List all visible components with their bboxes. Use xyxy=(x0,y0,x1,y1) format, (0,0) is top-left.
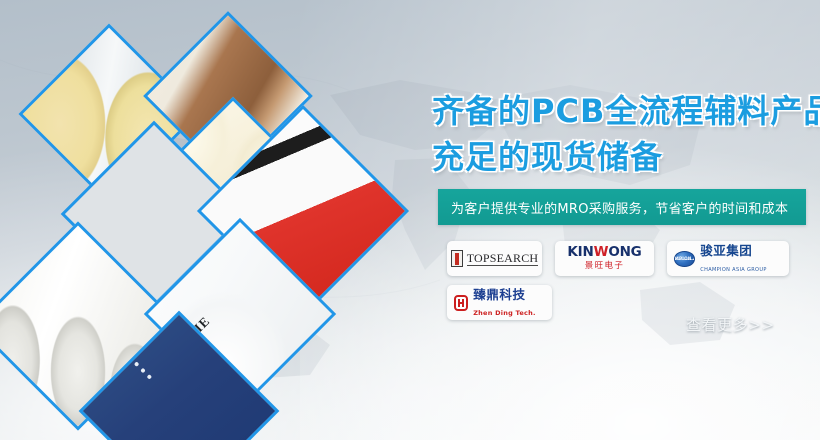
kinwong-chinese-name: 景旺电子 xyxy=(567,262,641,271)
headline-line-1: 齐备的PCB全流程辅料产品、 xyxy=(432,92,820,130)
zhending-chinese-name: 臻鼎科技 xyxy=(473,287,525,302)
banner-headline: 齐备的PCB全流程辅料产品、 充足的现货储备 xyxy=(432,88,820,180)
headline-line-2: 充足的现货储备 xyxy=(432,134,820,180)
topsearch-mark-icon xyxy=(451,250,463,267)
globe-icon-label: CHAMPION ASIA xyxy=(674,256,695,261)
champion-chinese-name: 骏亚集团 xyxy=(700,243,752,258)
partner-logo-champion-asia[interactable]: CHAMPION ASIA 骏亚集团 CHAMPION ASIA GROUP xyxy=(667,241,789,276)
banner-subtitle-text: 为客户提供专业的MRO采购服务，节省客户的时间和成本 xyxy=(438,198,788,217)
zhending-english-name: Zhen Ding Tech. xyxy=(473,309,536,317)
champion-english-name: CHAMPION ASIA GROUP xyxy=(700,267,766,273)
kinwong-wordmark: KINWONG xyxy=(567,246,641,260)
globe-icon: CHAMPION ASIA xyxy=(674,251,695,267)
kinwong-word-b: ONG xyxy=(608,244,641,260)
promo-banner: JIE 齐备的PCB全流程辅料产品、 充足的现货储备 为客户提供专业的MRO采购… xyxy=(0,0,820,440)
partner-logo-kinwong[interactable]: KINWONG 景旺电子 xyxy=(555,241,654,276)
partner-logo-topsearch[interactable]: TOPSEARCH xyxy=(447,241,542,276)
sheet-corner-dots xyxy=(126,357,156,387)
kinwong-word-a: KIN xyxy=(567,244,593,260)
product-photo-collage: JIE xyxy=(0,40,420,440)
banner-subtitle-band: 为客户提供专业的MRO采购服务，节省客户的时间和成本 xyxy=(438,189,806,225)
zhending-mark-icon xyxy=(454,295,468,311)
view-more-link[interactable]: 查看更多>> xyxy=(686,314,775,335)
topsearch-wordmark: TOPSEARCH xyxy=(467,252,539,266)
kinwong-word-w: W xyxy=(594,244,609,260)
partner-logo-zhen-ding[interactable]: 臻鼎科技 Zhen Ding Tech. xyxy=(447,285,552,320)
partner-logo-row-1: TOPSEARCH KINWONG 景旺电子 CHAMPION ASIA 骏亚集… xyxy=(447,241,812,276)
